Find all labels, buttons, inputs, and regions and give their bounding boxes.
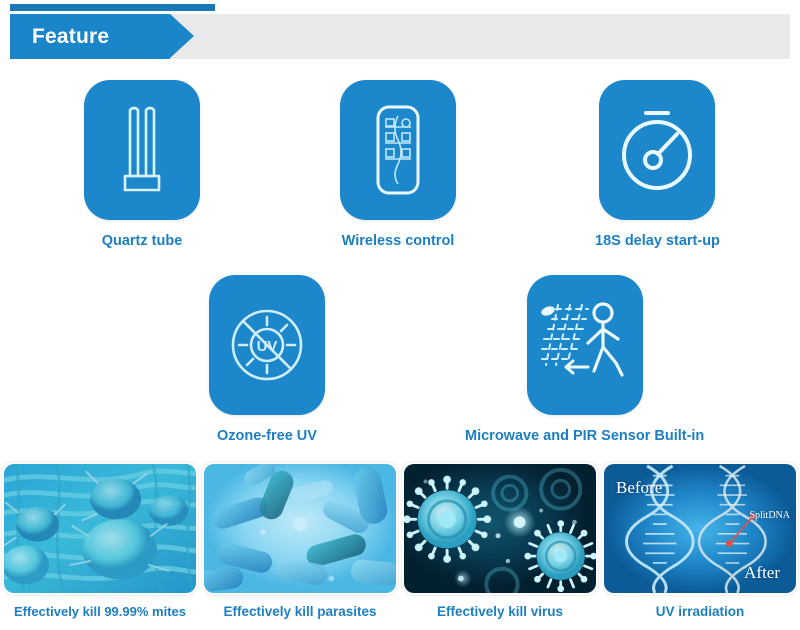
feature-grid: Quartz tube Wireless contro bbox=[0, 80, 800, 455]
photo-frame bbox=[2, 462, 198, 595]
quartz-tube-icon bbox=[110, 104, 174, 196]
photo-frame bbox=[202, 462, 398, 595]
feature-label: Microwave and PIR Sensor Built-in bbox=[465, 428, 704, 444]
feature-section-title: Feature bbox=[10, 25, 109, 49]
feature-tile bbox=[527, 275, 643, 415]
svg-text:UV: UV bbox=[257, 338, 278, 355]
feature-tag-arrow-shape bbox=[170, 14, 194, 58]
photo-item-virus[interactable]: Effectively kill virus bbox=[402, 462, 598, 619]
photo-frame: Before SplitDNA After bbox=[602, 462, 798, 595]
feature-tile bbox=[599, 80, 715, 220]
photo-caption: UV irradiation bbox=[602, 604, 798, 619]
feature-label: 18S delay start-up bbox=[595, 233, 720, 249]
photo-caption: Effectively kill virus bbox=[402, 604, 598, 619]
page-header: Feature bbox=[0, 0, 800, 72]
feature-tile bbox=[340, 80, 456, 220]
photo-frame bbox=[402, 462, 598, 595]
feature-item-delay-startup[interactable]: 18S delay start-up bbox=[595, 80, 720, 249]
feature-item-microwave-pir-sensor[interactable]: Microwave and PIR Sensor Built-in bbox=[465, 275, 704, 444]
photo-item-mites[interactable]: Effectively kill 99.99% mites bbox=[2, 462, 198, 619]
photo-strip: Effectively kill 99.99% mites bbox=[0, 462, 800, 630]
remote-control-icon bbox=[367, 102, 429, 198]
feature-item-ozone-free-uv[interactable]: UV Ozone-free UV bbox=[209, 275, 325, 444]
feature-label: Quartz tube bbox=[102, 233, 183, 249]
virus-particles-photo bbox=[404, 464, 596, 593]
dna-before-after-illustration bbox=[604, 464, 796, 593]
photo-caption: Effectively kill parasites bbox=[202, 604, 398, 619]
motion-sensor-person-icon bbox=[536, 299, 634, 391]
feature-label: Wireless control bbox=[342, 233, 455, 249]
feature-tile: UV bbox=[209, 275, 325, 415]
photo-item-uv-irradiation[interactable]: Before SplitDNA After UV irradiation bbox=[602, 462, 798, 619]
no-ozone-uv-icon: UV bbox=[221, 299, 313, 391]
feature-item-quartz-tube[interactable]: Quartz tube bbox=[84, 80, 200, 249]
stopwatch-icon bbox=[616, 104, 698, 196]
feature-item-wireless-control[interactable]: Wireless control bbox=[340, 80, 456, 249]
photo-caption: Effectively kill 99.99% mites bbox=[2, 604, 198, 619]
feature-label: Ozone-free UV bbox=[217, 428, 317, 444]
photo-item-parasites[interactable]: Effectively kill parasites bbox=[202, 462, 398, 619]
header-accent-topbar bbox=[10, 4, 215, 11]
feature-tile bbox=[84, 80, 200, 220]
bacteria-rods-photo bbox=[204, 464, 396, 593]
dust-mites-microscopy-photo bbox=[4, 464, 196, 593]
feature-section-tag: Feature bbox=[10, 14, 170, 59]
